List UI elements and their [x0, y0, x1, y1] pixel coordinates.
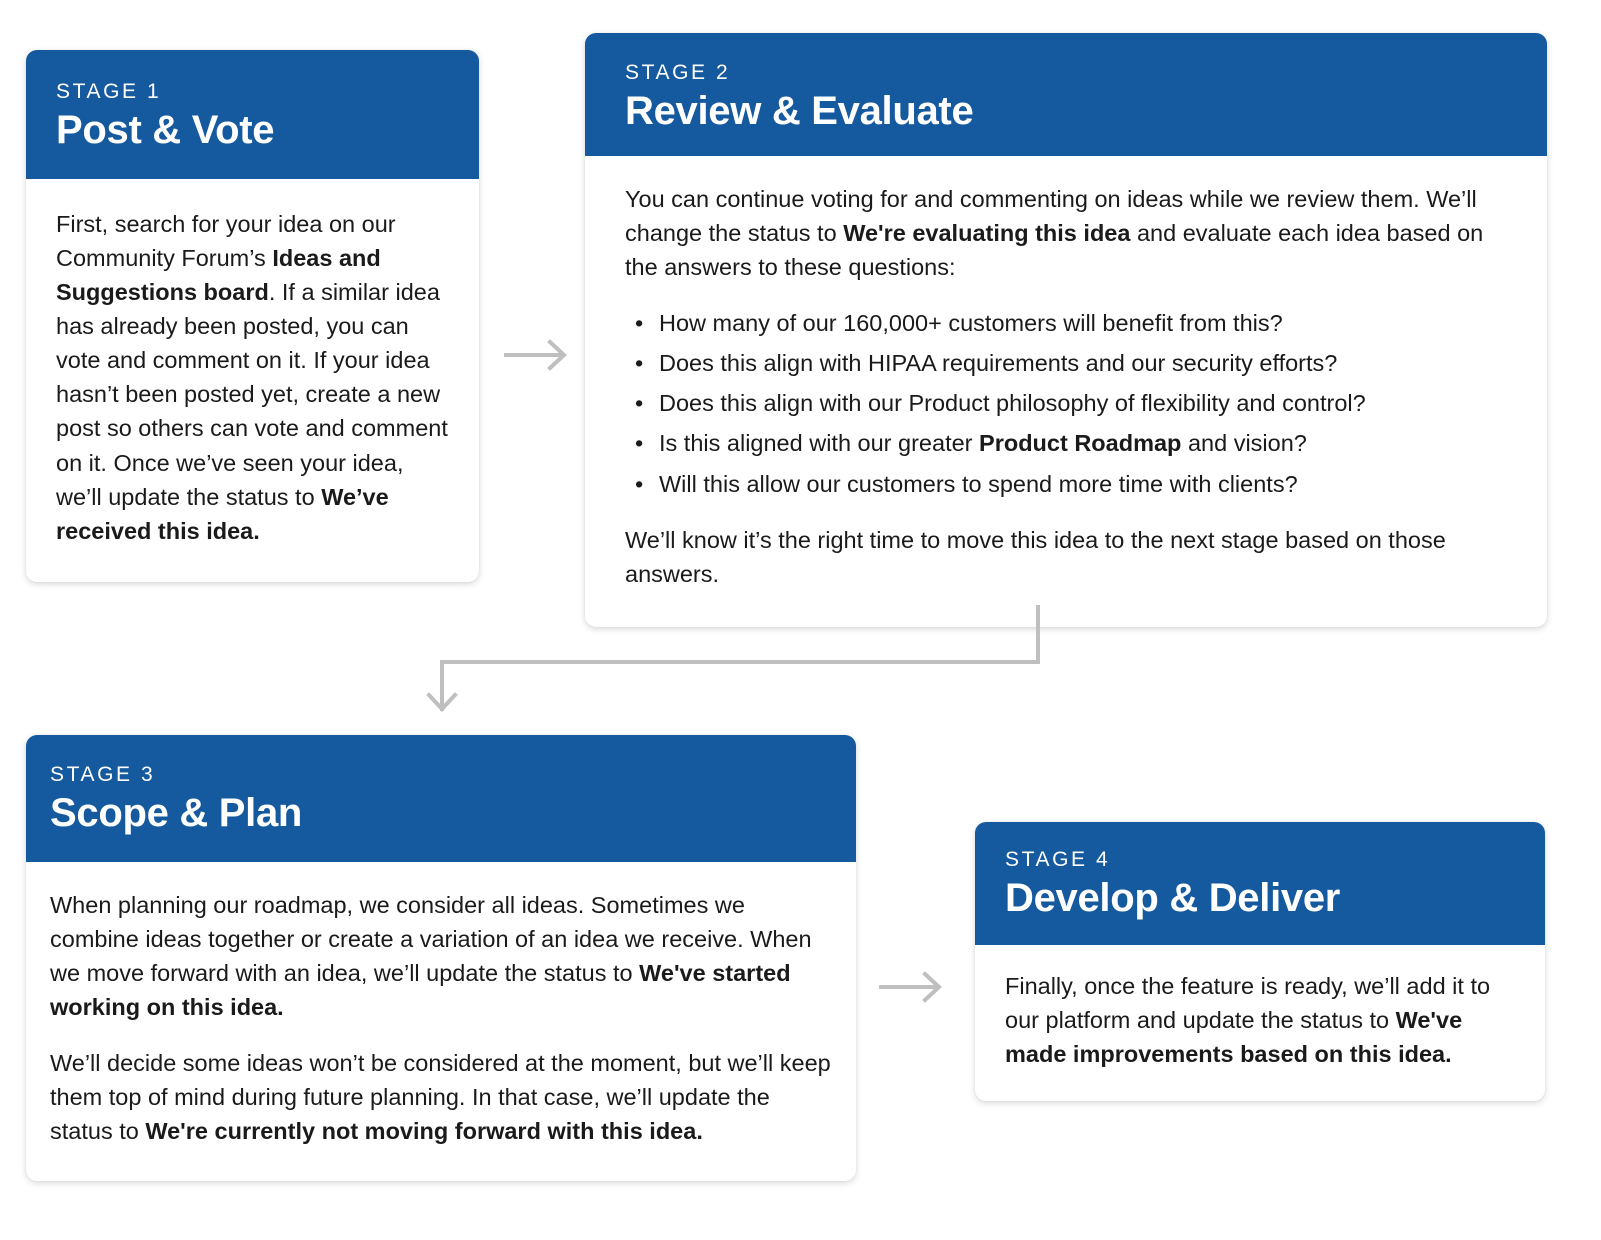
stage-2-intro: You can continue voting for and commenti… — [625, 182, 1507, 284]
stage-2-question-list: How many of our 160,000+ customers will … — [625, 306, 1507, 500]
stage-3-title: Scope & Plan — [50, 790, 832, 836]
stage-4-body: Finally, once the feature is ready, we’l… — [975, 945, 1545, 1101]
stage-3-header: STAGE 3 Scope & Plan — [26, 735, 856, 862]
stage-card-4: STAGE 4 Develop & Deliver Finally, once … — [975, 822, 1545, 1101]
arrow-right-icon-stage3-to-stage4 — [875, 962, 955, 1012]
stage-1-body: First, search for your idea on our Commu… — [26, 179, 479, 582]
stage-card-1: STAGE 1 Post & Vote First, search for yo… — [26, 50, 479, 582]
stage-card-3: STAGE 3 Scope & Plan When planning our r… — [26, 735, 856, 1181]
arrow-right-icon-stage1-to-stage2 — [500, 330, 580, 380]
stage-1-title: Post & Vote — [56, 107, 449, 153]
list-item: Will this allow our customers to spend m… — [655, 467, 1507, 501]
stage-2-title: Review & Evaluate — [625, 88, 1507, 134]
stage-1-header: STAGE 1 Post & Vote — [26, 50, 479, 179]
stage-1-paragraph: First, search for your idea on our Commu… — [56, 207, 449, 548]
stage-4-paragraph: Finally, once the feature is ready, we’l… — [1005, 969, 1515, 1071]
stage-2-header: STAGE 2 Review & Evaluate — [585, 33, 1547, 156]
stage-3-body: When planning our roadmap, we consider a… — [26, 862, 856, 1180]
stage-2-body: You can continue voting for and commenti… — [585, 156, 1547, 627]
stage-1-label: STAGE 1 — [56, 80, 449, 103]
stage-3-paragraph-1: When planning our roadmap, we consider a… — [50, 888, 832, 1024]
stage-3-paragraph-2: We’ll decide some ideas won’t be conside… — [50, 1046, 832, 1148]
stage-card-2: STAGE 2 Review & Evaluate You can contin… — [585, 33, 1547, 627]
stage-2-label: STAGE 2 — [625, 61, 1507, 84]
stage-4-header: STAGE 4 Develop & Deliver — [975, 822, 1545, 945]
list-item: Does this align with HIPAA requirements … — [655, 346, 1507, 380]
stage-3-label: STAGE 3 — [50, 763, 832, 786]
list-item: Does this align with our Product philoso… — [655, 386, 1507, 420]
list-item: How many of our 160,000+ customers will … — [655, 306, 1507, 340]
flow-diagram: STAGE 1 Post & Vote First, search for yo… — [0, 0, 1601, 1240]
list-item: Is this aligned with our greater Product… — [655, 426, 1507, 460]
stage-4-title: Develop & Deliver — [1005, 875, 1515, 921]
stage-2-outro: We’ll know it’s the right time to move t… — [625, 523, 1507, 591]
stage-4-label: STAGE 4 — [1005, 848, 1515, 871]
